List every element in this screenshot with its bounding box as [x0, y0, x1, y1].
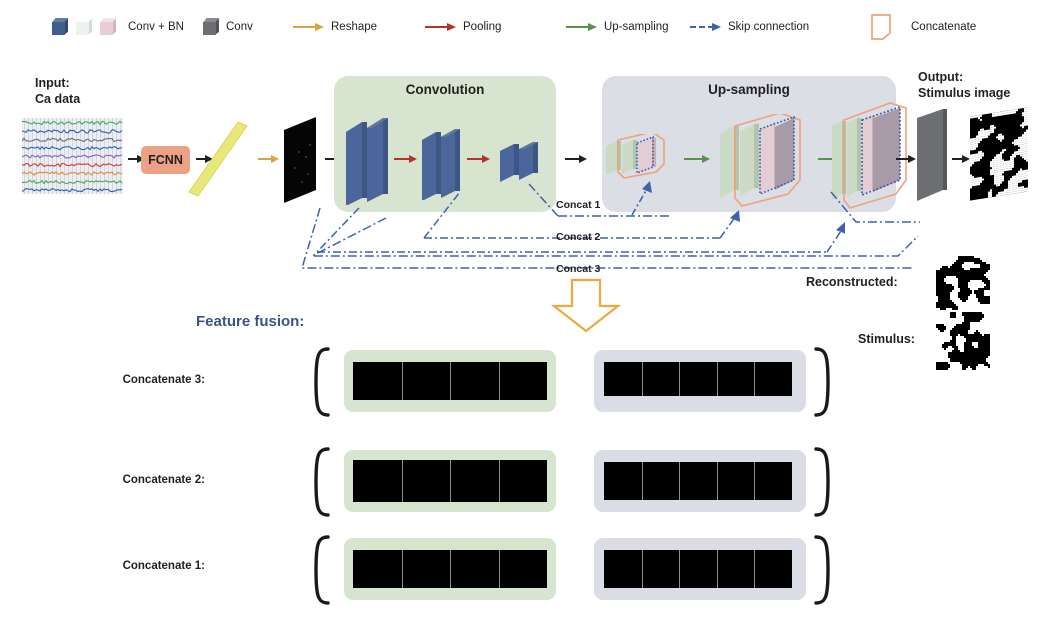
stimulus-image — [936, 312, 990, 370]
bracket-right-1 — [812, 534, 834, 606]
upsampling-block-title: Up-sampling — [602, 82, 896, 97]
reconstructed-image — [936, 256, 990, 310]
input-label-line1: Input: — [35, 76, 70, 90]
ff1-left-featuremaps — [353, 550, 547, 588]
output-label-line2: Stimulus image — [918, 86, 1010, 100]
legend-label-pooling: Pooling — [463, 21, 501, 33]
legend-label-conv-bn: Conv + BN — [128, 21, 184, 33]
feature-fusion-row-label-3: Concatenate 3: — [90, 374, 205, 386]
ff3-right-featuremaps — [604, 362, 792, 396]
legend-label-concatenate: Concatenate — [911, 21, 976, 33]
bracket-right-3 — [812, 346, 834, 418]
legend-concatenate-icon — [866, 13, 896, 41]
ff3-left-featuremaps — [353, 362, 547, 400]
input-label-line2: Ca data — [35, 92, 80, 106]
output-stimulus-image — [970, 107, 1028, 200]
output-label-line1: Output: — [918, 70, 963, 84]
ff2-right-featuremaps — [604, 462, 792, 500]
reshape-feature-vector-bar — [182, 118, 252, 200]
ff2-left-featuremaps — [353, 460, 547, 502]
bracket-left-3 — [310, 346, 332, 418]
bracket-right-2 — [812, 446, 834, 518]
legend: Conv + BN Conv Reshape Pooling Up-sampli… — [0, 0, 1061, 52]
bracket-left-1 — [310, 534, 332, 606]
feature-fusion-row-label-1: Concatenate 1: — [90, 560, 205, 572]
feature-fusion-row-label-2: Concatenate 2: — [90, 474, 205, 486]
calcium-data-image — [22, 118, 123, 194]
bracket-left-2 — [310, 446, 332, 518]
feature-fusion-down-arrow — [548, 278, 628, 334]
concat-1-label: Concat 1 — [556, 199, 600, 211]
legend-label-upsampling: Up-sampling — [604, 21, 669, 33]
stimulus-label: Stimulus: — [858, 332, 915, 346]
reconstructed-label: Reconstructed: — [806, 275, 898, 289]
concat-3-label: Concat 3 — [556, 263, 600, 275]
output-conv-slab — [915, 104, 955, 204]
concat-2-label: Concat 2 — [556, 231, 600, 243]
convolution-block-title: Convolution — [334, 82, 556, 97]
legend-label-conv: Conv — [226, 21, 253, 33]
feature-fusion-title: Feature fusion: — [196, 313, 304, 330]
legend-label-reshape: Reshape — [331, 21, 377, 33]
legend-label-skip: Skip connection — [728, 21, 809, 33]
ff1-right-featuremaps — [604, 550, 792, 588]
